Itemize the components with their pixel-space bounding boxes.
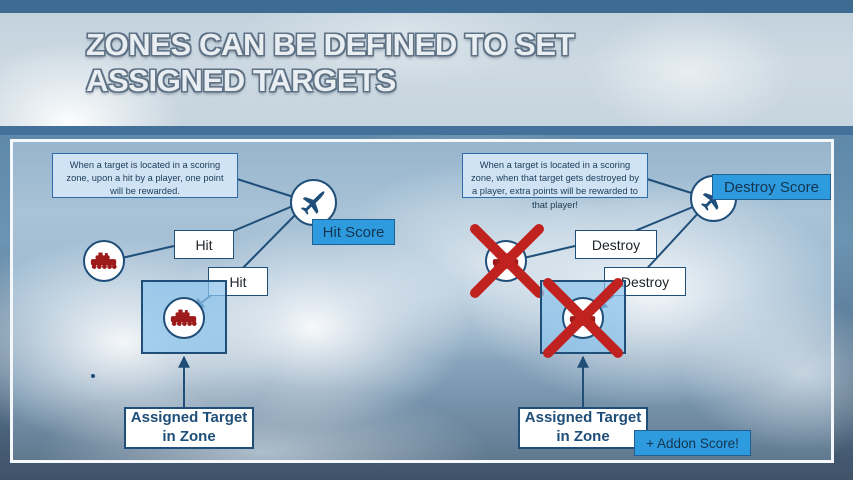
left-zone-caption-line1: Assigned Target — [131, 409, 247, 428]
red-tank-target-icon — [568, 307, 598, 329]
right-zone-caption-line1: Assigned Target — [525, 409, 641, 428]
left-zone-caption: Assigned Target in Zone — [124, 407, 254, 449]
header-divider-rule — [0, 126, 853, 135]
right-zone-target-icon — [562, 297, 604, 339]
red-tank-target-icon — [169, 307, 199, 329]
slide: ZONES CAN BE DEFINED TO SET ASSIGNED TAR… — [0, 0, 853, 480]
addon-score-badge: + Addon Score! — [634, 430, 751, 456]
page-title: ZONES CAN BE DEFINED TO SET ASSIGNED TAR… — [86, 27, 736, 99]
fighter-jet-icon — [297, 186, 330, 219]
red-tank-target-icon — [491, 250, 521, 272]
right-free-target-icon — [485, 240, 527, 282]
page-title-line2: ASSIGNED TARGETS — [86, 63, 736, 99]
top-accent-bar — [0, 0, 853, 13]
right-zone-caption-line2: in Zone — [556, 428, 609, 447]
left-free-target-icon — [83, 240, 125, 282]
left-zone-caption-line2: in Zone — [162, 428, 215, 447]
right-destroy-label-top: Destroy — [575, 230, 657, 259]
left-explanation-note: When a target is located in a scoring zo… — [52, 153, 238, 198]
left-target-icon — [91, 374, 95, 378]
page-title-line1: ZONES CAN BE DEFINED TO SET — [86, 27, 736, 63]
right-zone-caption: Assigned Target in Zone — [518, 407, 648, 449]
hit-score-badge: Hit Score — [312, 219, 395, 245]
destroy-score-badge: Destroy Score — [712, 174, 831, 200]
left-hit-label-top: Hit — [174, 230, 234, 259]
left-zone-target-icon — [163, 297, 205, 339]
diagram-panel: When a target is located in a scoring zo… — [10, 139, 834, 463]
red-tank-target-icon — [89, 250, 119, 272]
diagram-canvas: When a target is located in a scoring zo… — [13, 142, 831, 460]
right-explanation-note: When a target is located in a scoring zo… — [462, 153, 648, 198]
